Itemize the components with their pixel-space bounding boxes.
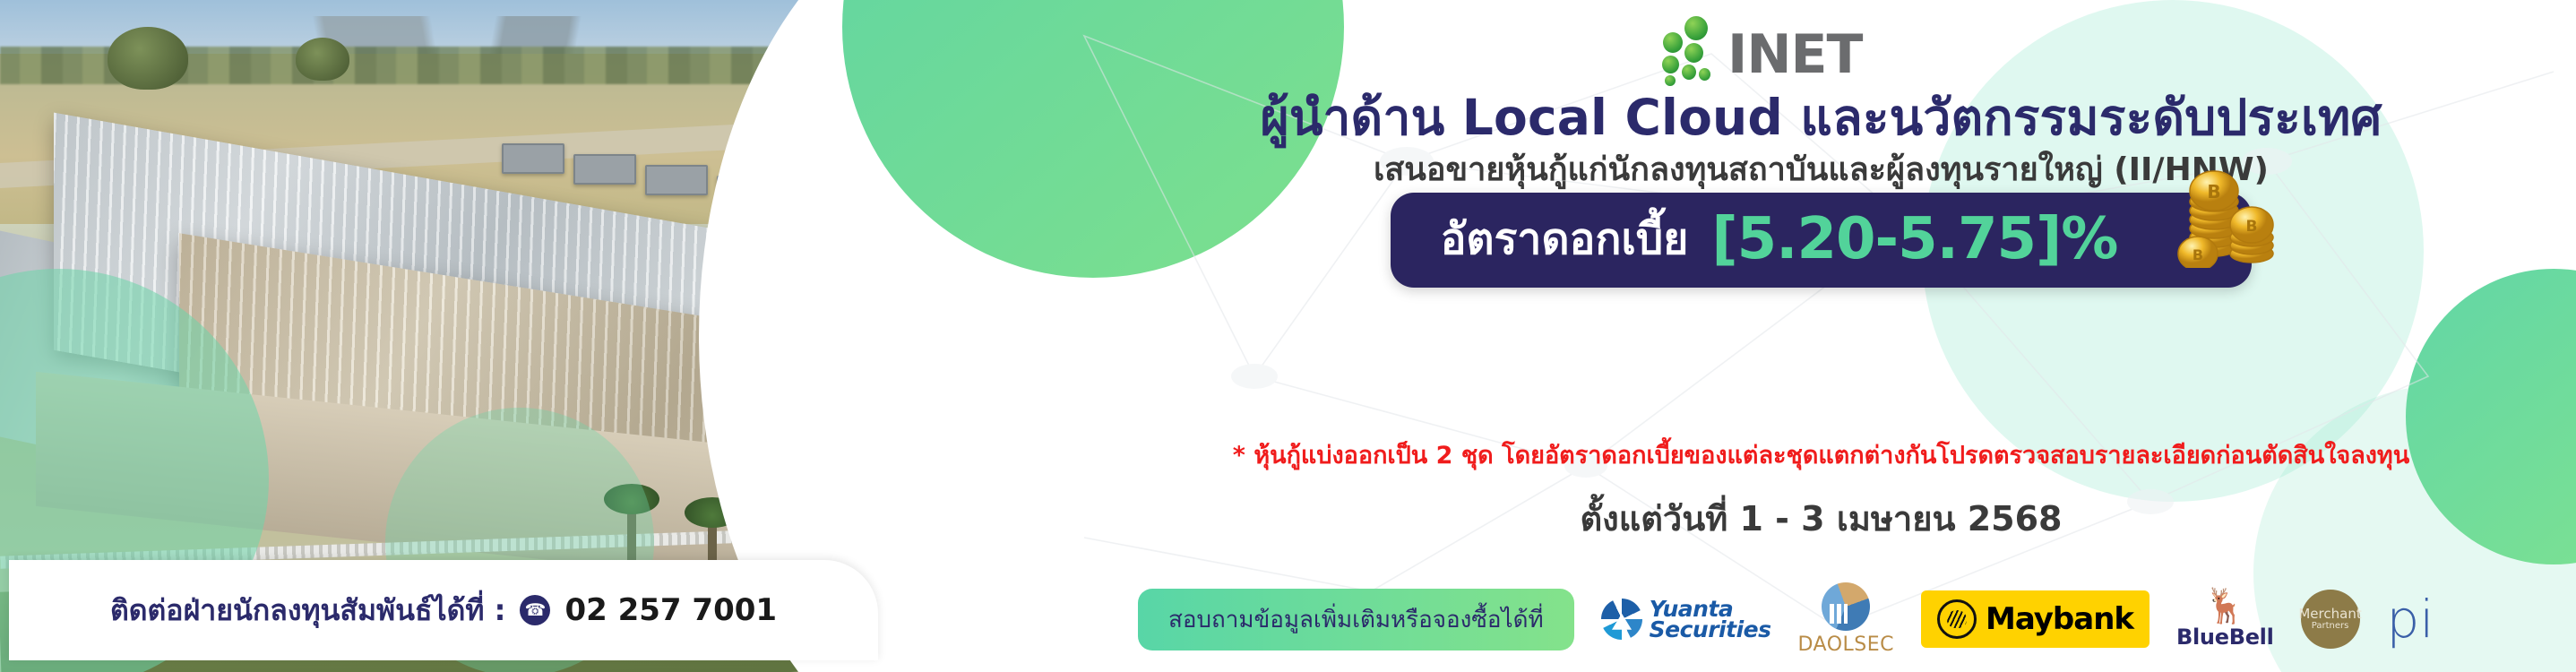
rate-label: อัตราดอกเบี้ย	[1441, 205, 1689, 273]
partner-logo-daol[interactable]: DAOLSEC	[1797, 582, 1894, 656]
gold-coins-icon: B B B	[2166, 160, 2282, 268]
offer-dates: ตั้งแต่วันที่ 1 - 3 เมษายน 2568	[1066, 491, 2576, 546]
rate-badge-wrapper: อัตราดอกเบี้ย [5.20-5.75]%	[1066, 193, 2576, 288]
partner-logo-yuanta[interactable]: Yuanta Securities	[1601, 599, 1771, 640]
bluebell-wordmark: BlueBell	[2176, 625, 2274, 650]
partner-logo-merchant[interactable]: Merchant Partners	[2301, 590, 2360, 649]
interest-rate-badge: อัตราดอกเบี้ย [5.20-5.75]%	[1391, 193, 2253, 288]
rooftop-unit	[645, 165, 708, 195]
cta-button[interactable]: สอบถามข้อมูลเพิ่มเติมหรือจองซื้อได้ที่	[1138, 589, 1574, 650]
maybank-tiger-icon	[1937, 599, 1977, 639]
phone-icon: ☎	[520, 595, 550, 625]
partner-logo-pi[interactable]: pi	[2387, 599, 2434, 640]
contact-label: ติดต่อฝ่ายนักลงทุนสัมพันธ์ได้ที่ :	[110, 588, 506, 633]
daol-light: SEC	[1854, 633, 1894, 656]
svg-text:B: B	[2193, 246, 2203, 263]
daol-bold: DAOL	[1797, 633, 1854, 656]
merchant-line1: Merchant	[2298, 607, 2361, 622]
daol-circle-icon	[1822, 582, 1870, 631]
partners-row: สอบถามข้อมูลเพิ่มเติมหรือจองซื้อได้ที่ Y…	[1066, 582, 2576, 656]
inet-wordmark: INET	[1727, 30, 1862, 81]
contact-bar: ติดต่อฝ่ายนักลงทุนสัมพันธ์ได้ที่ : ☎ 02 …	[9, 560, 878, 660]
tree	[296, 38, 349, 81]
inet-dots-logo	[1658, 16, 1724, 82]
rooftop-unit	[502, 143, 564, 174]
rate-value: [5.20-5.75]%	[1711, 206, 2117, 272]
tree	[108, 27, 188, 90]
merchant-line2: Partners	[2312, 622, 2349, 632]
partner-logo-maybank[interactable]: Maybank	[1921, 590, 2150, 648]
svg-text:B: B	[2246, 218, 2258, 236]
maybank-wordmark: Maybank	[1986, 601, 2133, 637]
svg-text:B: B	[2208, 181, 2221, 202]
content-column: INET ผู้นำด้าน Local Cloud และนวัตกรรมระ…	[1066, 0, 2576, 672]
rooftop-unit	[573, 154, 636, 185]
yuanta-line2: Securities	[1650, 619, 1771, 640]
promotional-banner: INET ผู้นำด้าน Local Cloud และนวัตกรรมระ…	[0, 0, 2576, 672]
contact-phone-number[interactable]: 02 257 7001	[564, 592, 777, 628]
subheadline: เสนอขายหุ้นกู้แก่นักลงทุนสถาบันและผู้ลงท…	[1066, 143, 2576, 194]
inet-logo: INET	[1658, 16, 1862, 82]
yuanta-star-icon	[1601, 599, 1642, 640]
footnote-text: * หุ้นกู้แบ่งออกเป็น 2 ชุด โดยอัตราดอกเบ…	[1066, 435, 2576, 474]
bluebell-deer-icon: 🦌	[2204, 589, 2246, 623]
partner-logo-bluebell[interactable]: 🦌 BlueBell	[2176, 589, 2274, 650]
